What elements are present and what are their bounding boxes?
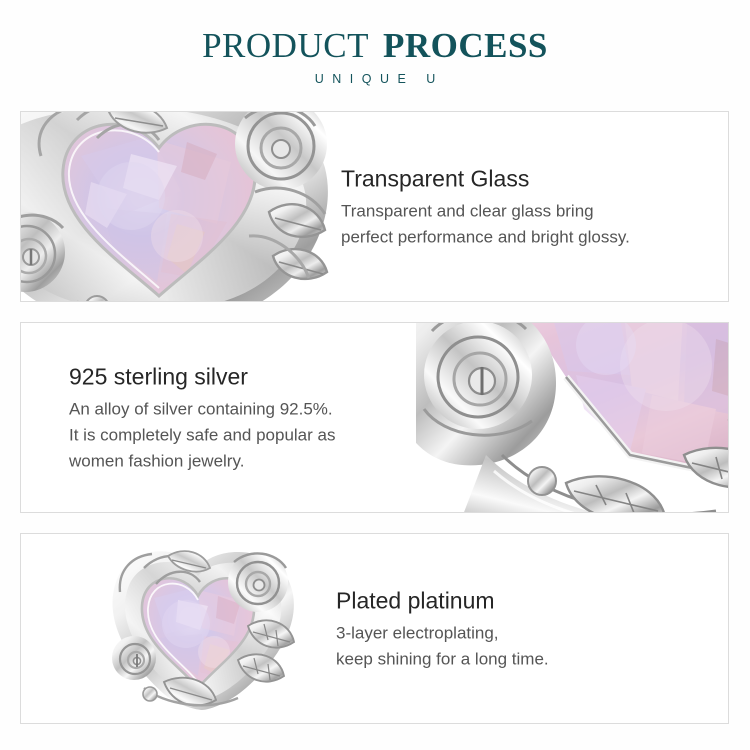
charm-closeup-gemstone-image bbox=[20, 111, 341, 302]
panel-text-plated-platinum: Plated platinum 3-layer electroplating, … bbox=[336, 585, 706, 672]
charm-full-bead-image bbox=[98, 548, 308, 713]
page-title: PRODUCTPROCESS bbox=[202, 27, 548, 65]
panel-body-line: Transparent and clear glass bring bbox=[341, 198, 721, 224]
page-subtitle: UNIQUE U bbox=[306, 72, 444, 86]
panel-heading: Plated platinum bbox=[336, 585, 706, 615]
panel-heading: 925 sterling silver bbox=[69, 361, 429, 391]
panel-text-transparent-glass: Transparent Glass Transparent and clear … bbox=[341, 163, 721, 250]
feature-panel-transparent-glass: Transparent Glass Transparent and clear … bbox=[20, 111, 729, 302]
panel-heading: Transparent Glass bbox=[341, 163, 721, 193]
panel-text-sterling-silver: 925 sterling silver An alloy of silver c… bbox=[69, 361, 429, 474]
charm-closeup-silver-setting-image bbox=[416, 322, 729, 513]
panel-body-line: women fashion jewelry. bbox=[69, 448, 429, 474]
panel-body-line: keep shining for a long time. bbox=[336, 646, 706, 672]
page-title-part1: PRODUCT bbox=[202, 26, 369, 65]
feature-panel-plated-platinum: Plated platinum 3-layer electroplating, … bbox=[20, 533, 729, 724]
product-process-page: PRODUCTPROCESS UNIQUE U bbox=[0, 0, 750, 750]
panel-body-line: It is completely safe and popular as bbox=[69, 422, 429, 448]
page-title-part2: PROCESS bbox=[383, 26, 548, 65]
page-header: PRODUCTPROCESS UNIQUE U bbox=[0, 0, 750, 100]
feature-panel-sterling-silver: 925 sterling silver An alloy of silver c… bbox=[20, 322, 729, 513]
panel-body-line: An alloy of silver containing 92.5%. bbox=[69, 396, 429, 422]
panel-body-line: perfect performance and bright glossy. bbox=[341, 224, 721, 250]
panel-body-line: 3-layer electroplating, bbox=[336, 620, 706, 646]
